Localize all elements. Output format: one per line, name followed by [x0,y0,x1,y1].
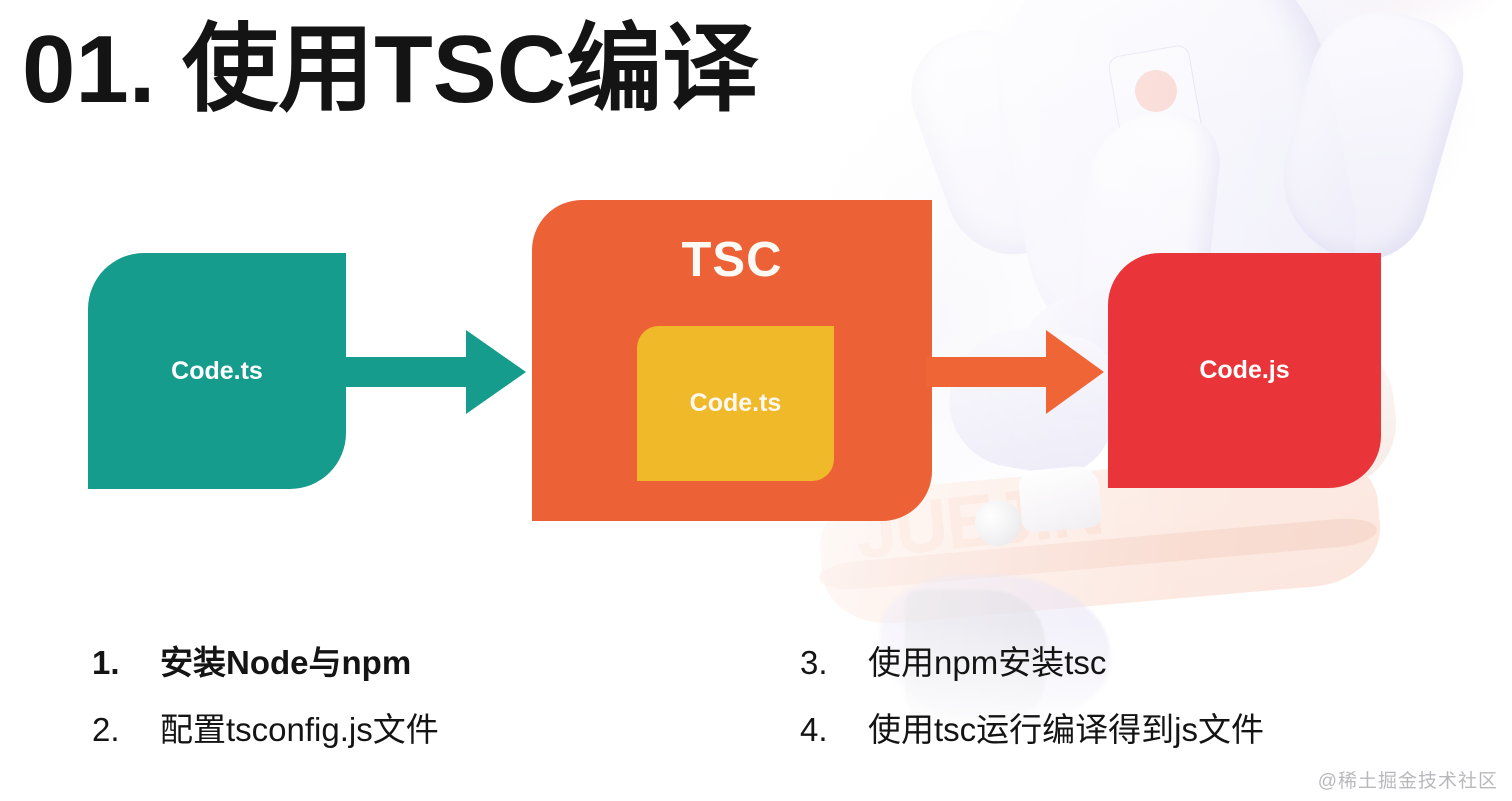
tsc-inner-source-label: Code.ts [690,389,782,418]
astronaut-chest-button [1132,67,1181,116]
list-item-label: 使用tsc运行编译得到js文件 [868,707,1264,754]
list-item-label: 使用npm安装tsc [868,640,1106,687]
astronaut-chest-panel [1107,44,1205,159]
list-item: 1.安装Node与npm [92,640,732,687]
list-item: 4.使用tsc运行编译得到js文件 [800,707,1450,754]
list-item: 2.配置tsconfig.js文件 [92,707,732,754]
skateboard-wheel [973,498,1023,548]
watermark: @稀土掘金技术社区 [1318,766,1498,793]
output-file-box: Code.js [1108,253,1381,488]
output-file-label: Code.js [1199,356,1289,385]
tsc-label: TSC [532,232,932,288]
tsc-inner-source-box: Code.ts [637,326,834,481]
list-item-label: 安装Node与npm [160,640,411,687]
steps-list: 1.安装Node与npm2.配置tsconfig.js文件 3.使用npm安装t… [0,640,1512,780]
list-item-number: 4. [800,707,868,754]
source-file-label: Code.ts [171,357,263,386]
list-item-number: 1. [92,640,160,687]
arrow-right-icon-tsc-to-output [926,328,1104,416]
steps-column-left: 1.安装Node与npm2.配置tsconfig.js文件 [92,640,732,774]
steps-column-right: 3.使用npm安装tsc4.使用tsc运行编译得到js文件 [800,640,1450,774]
skateboard-truck [1017,465,1102,534]
tsc-compiler-box: TSC Code.ts [532,200,932,521]
astronaut-arm-right [1263,0,1476,276]
source-file-box: Code.ts [88,253,346,489]
page-title: 01. 使用TSC编译 [22,16,758,124]
list-item: 3.使用npm安装tsc [800,640,1450,687]
slide-canvas: JUEJIN 01. 使用TSC编译 Code.ts TSC Code.ts C… [0,0,1512,801]
skateboard-deck-edge [818,516,1378,593]
list-item-label: 配置tsconfig.js文件 [160,707,439,754]
list-item-number: 3. [800,640,868,687]
list-item-number: 2. [92,707,160,754]
arrow-right-icon-source-to-tsc [340,328,526,416]
